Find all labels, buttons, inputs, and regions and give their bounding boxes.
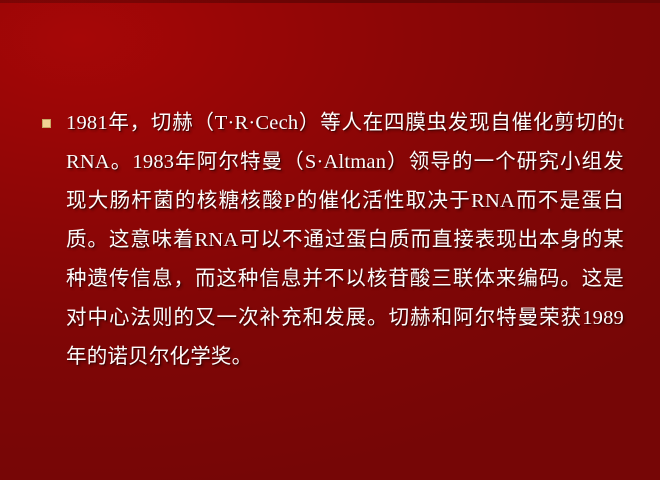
square-bullet-icon [42, 119, 51, 128]
bullet-list-item: 1981年，切赫（T·R·Cech）等人在四膜虫发现自催化剪切的tRNA。198… [38, 104, 624, 377]
bullet-paragraph-text: 1981年，切赫（T·R·Cech）等人在四膜虫发现自催化剪切的tRNA。198… [38, 104, 624, 377]
presentation-slide: 1981年，切赫（T·R·Cech）等人在四膜虫发现自催化剪切的tRNA。198… [0, 0, 660, 480]
slide-body: 1981年，切赫（T·R·Cech）等人在四膜虫发现自催化剪切的tRNA。198… [38, 104, 624, 377]
